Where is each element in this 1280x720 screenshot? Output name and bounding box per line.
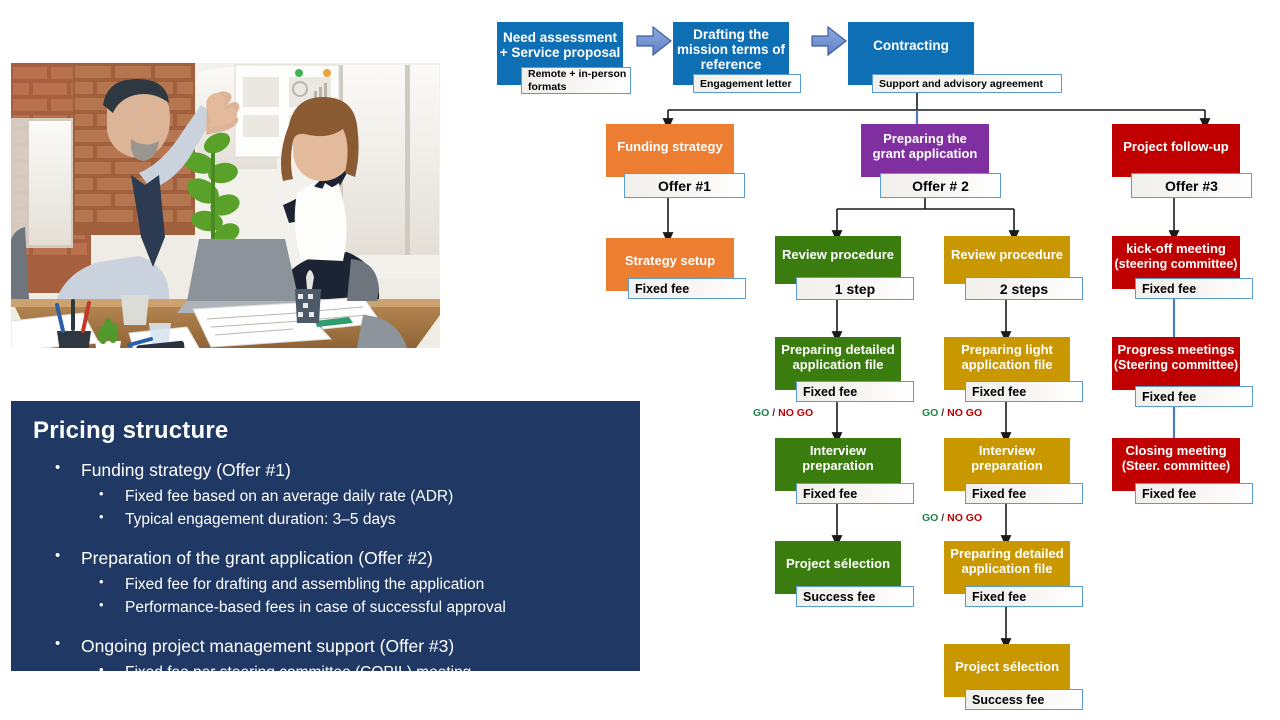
- node-title: Project follow-up: [1112, 140, 1240, 155]
- node-title: Strategy setup: [606, 254, 734, 269]
- go-label: GO: [922, 512, 938, 524]
- plaque-support-advisory[interactable]: Support and advisory agreement: [872, 74, 1062, 93]
- plaque-label: Fixed fee: [1142, 390, 1196, 404]
- node-subtitle: (Steer. committee): [1122, 459, 1230, 473]
- plaque-1-step[interactable]: 1 step: [796, 277, 914, 300]
- node-title: Preparing light application file: [944, 343, 1070, 372]
- node-project-follow-up[interactable]: Project follow-up: [1112, 124, 1240, 177]
- node-title: Closing meeting: [1112, 444, 1240, 459]
- plaque-offer-3[interactable]: Offer #3: [1131, 173, 1252, 198]
- plaque-label: Fixed fee: [1142, 487, 1196, 501]
- plaque-label: Fixed fee: [972, 385, 1026, 399]
- gate-separator: /: [938, 407, 947, 419]
- plaque-2-steps[interactable]: 2 steps: [965, 277, 1083, 300]
- plaque-label: 1 step: [835, 281, 875, 297]
- node-progress-meetings[interactable]: Progress meetings (Steering committee): [1112, 337, 1240, 390]
- connector-wires: [0, 0, 1280, 720]
- plaque-detailed-file-fee-green[interactable]: Fixed fee: [796, 381, 914, 402]
- plaque-engagement-letter[interactable]: Engagement letter: [693, 74, 801, 93]
- gate-separator: /: [938, 512, 947, 524]
- node-title: Review procedure: [775, 248, 901, 263]
- gate-separator: /: [769, 407, 778, 419]
- plaque-closing-fee[interactable]: Fixed fee: [1135, 483, 1253, 504]
- node-title: Interview preparation: [944, 444, 1070, 473]
- node-title: Drafting the mission terms of reference: [673, 27, 789, 72]
- node-title: Review procedure: [944, 248, 1070, 263]
- plaque-success-fee-green[interactable]: Success fee: [796, 586, 914, 607]
- plaque-label: Engagement letter: [700, 78, 792, 90]
- node-title: Interview preparation: [775, 444, 901, 473]
- plaque-remote-formats[interactable]: Remote + in-person formats: [521, 67, 631, 94]
- plaque-label: Success fee: [972, 693, 1044, 707]
- plaque-label: Remote + in-person formats: [528, 68, 630, 92]
- gate-go-nogo-gold-2: GO / NO GO: [922, 512, 982, 524]
- plaque-interview-fee-gold[interactable]: Fixed fee: [965, 483, 1083, 504]
- go-label: GO: [922, 407, 938, 419]
- plaque-light-file-fee[interactable]: Fixed fee: [965, 381, 1083, 402]
- node-title: Funding strategy: [606, 140, 734, 155]
- node-title: Preparing the grant application: [861, 132, 989, 161]
- process-flow-diagram: Need assessment + Service proposal Remot…: [0, 0, 1280, 720]
- node-preparing-grant-application[interactable]: Preparing the grant application: [861, 124, 989, 177]
- plaque-label: Offer #3: [1165, 178, 1218, 194]
- plaque-label: Fixed fee: [1142, 282, 1196, 296]
- node-title: Preparing detailed application file: [944, 547, 1070, 576]
- node-title: Need assessment + Service proposal: [497, 30, 623, 60]
- plaque-offer-1[interactable]: Offer #1: [624, 173, 745, 198]
- node-title: Project sélection: [944, 660, 1070, 675]
- plaque-label: Offer # 2: [912, 178, 969, 194]
- node-title: Progress meetings: [1112, 343, 1240, 358]
- node-title: kick-off meeting: [1112, 242, 1240, 257]
- nogo-label: NO GO: [947, 407, 982, 419]
- plaque-strategy-setup-fee[interactable]: Fixed fee: [628, 278, 746, 299]
- plaque-label: Fixed fee: [972, 590, 1026, 604]
- plaque-interview-fee-green[interactable]: Fixed fee: [796, 483, 914, 504]
- nogo-label: NO GO: [947, 512, 982, 524]
- plaque-label: Support and advisory agreement: [879, 78, 1043, 90]
- plaque-label: Fixed fee: [803, 385, 857, 399]
- node-funding-strategy[interactable]: Funding strategy: [606, 124, 734, 177]
- gate-go-nogo-gold-1: GO / NO GO: [922, 407, 982, 419]
- plaque-kickoff-fee[interactable]: Fixed fee: [1135, 278, 1253, 299]
- node-title: Preparing detailed application file: [775, 343, 901, 372]
- plaque-label: Success fee: [803, 590, 875, 604]
- gate-go-nogo-green-1: GO / NO GO: [753, 407, 813, 419]
- plaque-progress-fee[interactable]: Fixed fee: [1135, 386, 1253, 407]
- node-subtitle: (steering committee): [1115, 257, 1238, 271]
- plaque-label: Fixed fee: [972, 487, 1026, 501]
- plaque-offer-2[interactable]: Offer # 2: [880, 173, 1001, 198]
- node-subtitle: (Steering committee): [1114, 358, 1238, 372]
- plaque-detailed-file-fee-gold[interactable]: Fixed fee: [965, 586, 1083, 607]
- node-title: Project sélection: [775, 557, 901, 572]
- go-label: GO: [753, 407, 769, 419]
- nogo-label: NO GO: [778, 407, 813, 419]
- node-title: Contracting: [848, 38, 974, 53]
- plaque-label: Fixed fee: [635, 282, 689, 296]
- plaque-label: Fixed fee: [803, 487, 857, 501]
- plaque-label: 2 steps: [1000, 281, 1048, 297]
- plaque-label: Offer #1: [658, 178, 711, 194]
- plaque-success-fee-gold[interactable]: Success fee: [965, 689, 1083, 710]
